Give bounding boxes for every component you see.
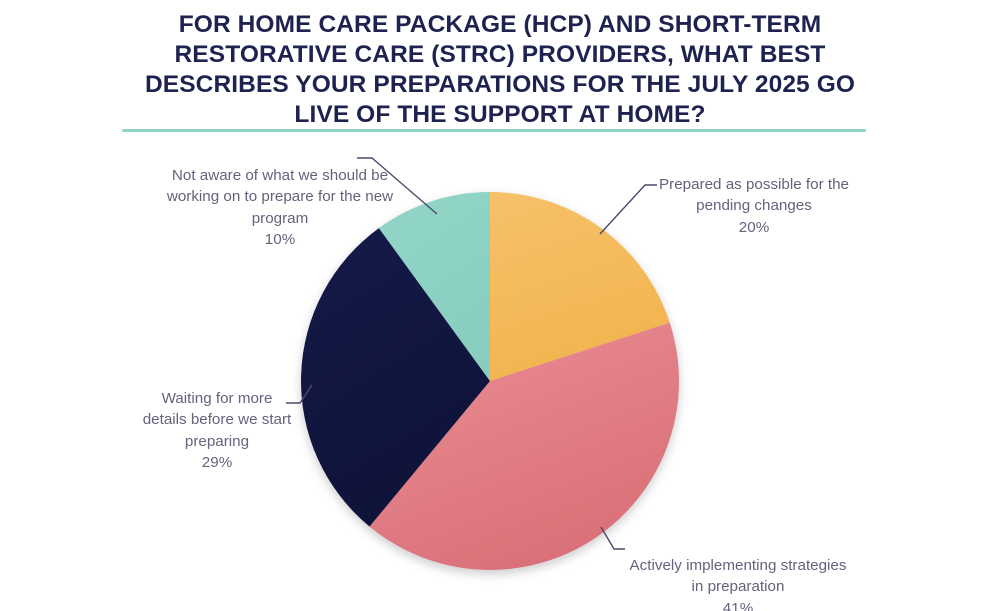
slice-label-waiting: Waiting for more details before we start…: [124, 366, 310, 495]
slice-label-waiting-text: Waiting for more details before we start…: [143, 390, 292, 450]
page-title: For home care package (HCP) and short-te…: [110, 10, 890, 130]
slice-label-prepared: Prepared as possible for the pending cha…: [634, 152, 874, 260]
slice-label-not-aware: Not aware of what we should be working o…: [150, 143, 410, 272]
pie-slice-waiting[interactable]: [301, 228, 490, 527]
slice-label-prepared-percent: 20%: [634, 217, 874, 239]
title-divider: [122, 129, 866, 132]
slice-label-actively-percent: 41%: [612, 598, 864, 611]
slice-label-not-aware-percent: 10%: [150, 229, 410, 251]
slice-label-actively-text: Actively implementing strategies in prep…: [630, 557, 847, 596]
slice-label-waiting-percent: 29%: [124, 452, 310, 474]
slice-label-actively: Actively implementing strategies in prep…: [612, 533, 864, 611]
slice-label-not-aware-text: Not aware of what we should be working o…: [167, 167, 393, 227]
chart-canvas: For home care package (HCP) and short-te…: [0, 0, 1000, 611]
slice-label-prepared-text: Prepared as possible for the pending cha…: [659, 176, 849, 215]
